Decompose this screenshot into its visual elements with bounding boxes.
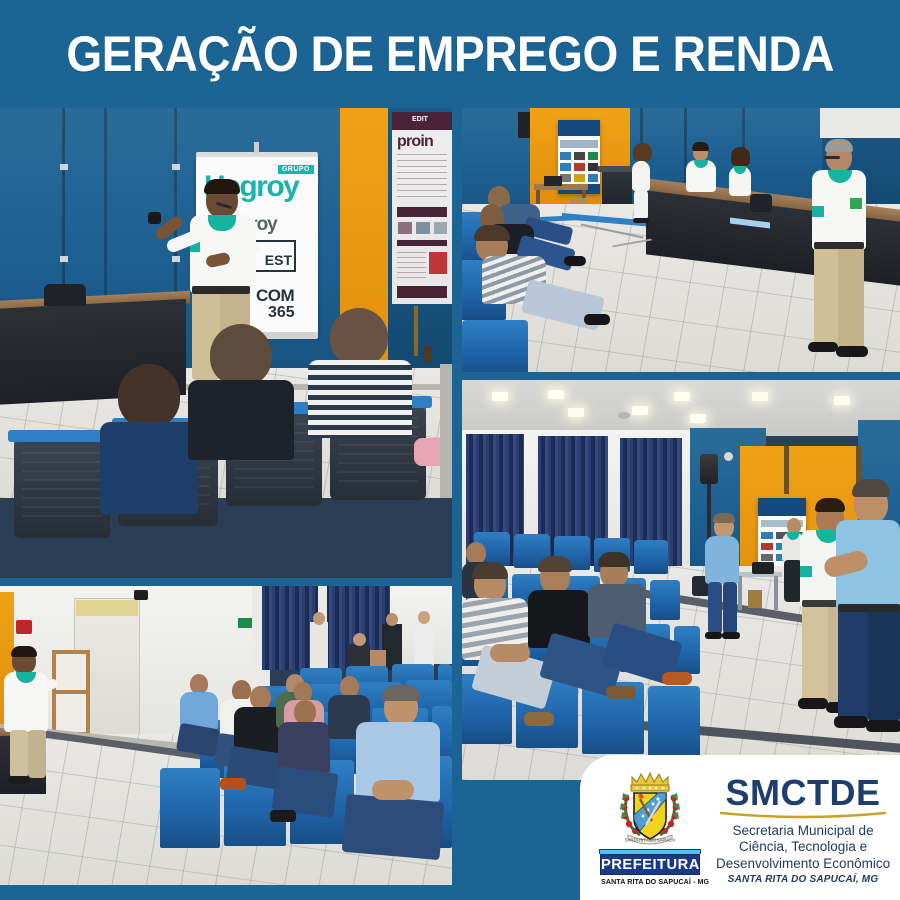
person-audience-foreground bbox=[350, 688, 450, 874]
proin-poster: EDIT proin bbox=[392, 112, 452, 304]
person-standing bbox=[310, 622, 328, 668]
scene-bottom-left bbox=[0, 586, 452, 886]
logo-panel: SANTA RITA DO SAPUCAI PREFEITURA SANTA R… bbox=[580, 755, 900, 900]
speaker-leg bbox=[28, 730, 46, 778]
scene-top-right bbox=[462, 108, 900, 372]
person-standing-woman bbox=[628, 146, 654, 222]
person-speaker bbox=[4, 648, 58, 780]
equipment-box bbox=[544, 176, 562, 186]
scene-bottom-right bbox=[462, 380, 900, 780]
wall-speaker bbox=[518, 112, 530, 138]
wall-bracket bbox=[60, 256, 68, 262]
speaker-hair bbox=[11, 646, 37, 657]
speaker-belt bbox=[192, 286, 250, 294]
smctde-line-1: Secretaria Municipal de bbox=[733, 823, 874, 840]
audience-head bbox=[118, 364, 180, 428]
prefeitura-label: PREFEITURA bbox=[600, 854, 700, 875]
prefeitura-sublabel: SANTA RITA DO SAPUCAÍ - MG bbox=[601, 877, 699, 886]
laptop bbox=[752, 562, 774, 574]
office-chair bbox=[750, 194, 772, 212]
smctde-line-3: Desenvolvimento Econômico bbox=[716, 856, 890, 873]
fire-alarm-icon bbox=[16, 620, 32, 634]
cardboard-box bbox=[748, 590, 762, 608]
banner-hook bbox=[254, 142, 259, 153]
swoosh-icon bbox=[719, 811, 887, 820]
ceiling-light-icon bbox=[724, 452, 733, 461]
wall-speaker bbox=[700, 454, 718, 484]
svg-text:SANTA RITA DO SAPUCAI: SANTA RITA DO SAPUCAI bbox=[625, 838, 676, 843]
smctde-logo: SMCTDE Secretaria Municipal de Ciência, … bbox=[716, 770, 890, 886]
audience-torso-striped bbox=[308, 360, 412, 438]
person-audience-foreground bbox=[468, 228, 588, 368]
page-title: GERAÇÃO DE EMPREGO E RENDA bbox=[66, 25, 834, 83]
poster-stand bbox=[414, 306, 418, 356]
poster-brand: proin bbox=[397, 133, 433, 151]
person-audience bbox=[586, 556, 664, 726]
person-audience bbox=[306, 308, 410, 438]
audience-head bbox=[330, 308, 388, 366]
person-audience bbox=[188, 324, 294, 454]
wall-bracket bbox=[60, 164, 68, 170]
person-presenter-foreground bbox=[836, 484, 900, 736]
door-transom bbox=[76, 600, 138, 616]
audience-torso bbox=[100, 422, 198, 514]
poster-root: GERAÇÃO DE EMPREGO E RENDA bbox=[0, 0, 900, 900]
ceiling-sensor-icon bbox=[618, 412, 630, 419]
prefeitura-wordmark: PREFEITURA SANTA RITA DO SAPUCAÍ - MG bbox=[599, 849, 701, 886]
headset-mic-icon bbox=[824, 156, 840, 159]
ceiling bbox=[462, 380, 900, 436]
bottom-frame-strip bbox=[0, 885, 585, 900]
brasao-icon: SANTA RITA DO SAPUCAI bbox=[610, 769, 690, 847]
prefeitura-logo: SANTA RITA DO SAPUCAI PREFEITURA SANTA R… bbox=[598, 769, 702, 886]
office-chair bbox=[44, 284, 86, 306]
person-audience bbox=[176, 674, 222, 760]
exit-sign-icon bbox=[238, 618, 252, 628]
person-standing-man bbox=[684, 144, 718, 202]
poster-header: GERAÇÃO DE EMPREGO E RENDA bbox=[0, 0, 900, 108]
person-standing bbox=[702, 516, 742, 642]
person-audience bbox=[96, 364, 200, 494]
security-camera-icon bbox=[134, 590, 148, 600]
photo-bottom-left bbox=[0, 586, 452, 886]
scene-top-left: GRUPO Hegroy egroy EST COM 365 EDIT proi… bbox=[0, 108, 452, 578]
photo-top-right bbox=[462, 108, 900, 372]
poster-header-text: EDIT bbox=[412, 116, 428, 123]
photo-bottom-right bbox=[462, 380, 900, 780]
smctde-city: SANTA RITA DO SAPUCAÍ, MG bbox=[728, 874, 879, 885]
photo-top-left: GRUPO Hegroy egroy EST COM 365 EDIT proi… bbox=[0, 108, 452, 578]
person-standing bbox=[414, 622, 434, 666]
edge-wall bbox=[440, 364, 452, 498]
smctde-line-2: Ciência, Tecnologia e bbox=[739, 839, 867, 856]
smctde-acronym: SMCTDE bbox=[726, 774, 881, 812]
speaker-shoe bbox=[8, 776, 30, 784]
person-presenter bbox=[810, 142, 868, 358]
audience-torso bbox=[188, 380, 294, 460]
speaker-leg bbox=[10, 730, 28, 778]
event-banner bbox=[558, 120, 600, 194]
speaker-hair bbox=[204, 179, 240, 194]
fire-extinguisher bbox=[423, 346, 432, 362]
banner-pole bbox=[784, 446, 789, 494]
projection-screen bbox=[820, 108, 900, 138]
speaker-clicker bbox=[148, 212, 161, 224]
audience-head bbox=[210, 324, 272, 386]
window-mullion bbox=[252, 586, 262, 670]
wall-bracket bbox=[172, 164, 180, 170]
